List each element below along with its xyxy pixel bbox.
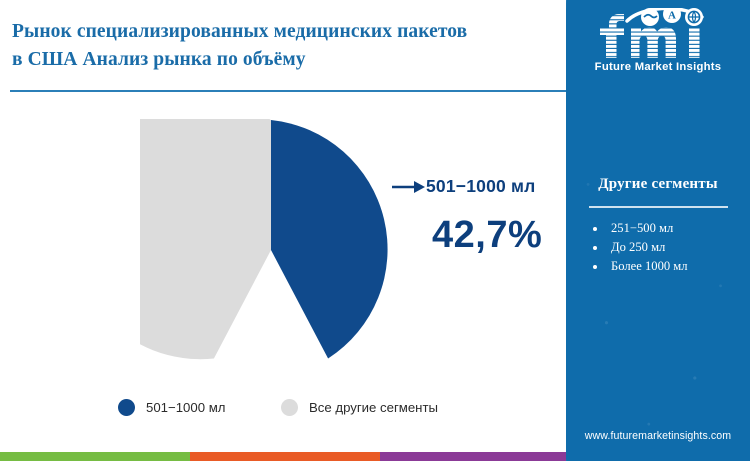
page-title: Рынок специализированных медицинских пак…	[12, 18, 557, 74]
bullet-icon	[593, 227, 597, 231]
brand-tagline: Future Market Insights	[566, 61, 750, 73]
callout-value: 42,7%	[432, 214, 542, 257]
list-item-label: 251−500 мл	[611, 221, 673, 235]
list-item: 251−500 мл	[589, 219, 749, 238]
sidebar-segment-list: 251−500 мл До 250 мл Более 1000 мл	[589, 219, 749, 276]
pie-slice-501-1000	[271, 120, 388, 359]
chart-legend: 501−1000 мл Все другие сегменты	[118, 394, 458, 420]
infographic-canvas: Рынок специализированных медицинских пак…	[0, 0, 750, 461]
pie-slice-other	[140, 119, 271, 359]
page-title-line-2: в США Анализ рынка по объёму	[12, 46, 557, 74]
footer-strip-purple	[380, 452, 566, 461]
bullet-icon	[593, 265, 597, 269]
legend-label: Все другие сегменты	[309, 400, 438, 415]
page-title-line-1: Рынок специализированных медицинских пак…	[12, 21, 467, 42]
legend-swatch-icon	[118, 399, 135, 416]
footer-strip-green	[0, 452, 190, 461]
callout-label: 501−1000 мл	[426, 176, 535, 197]
list-item: До 250 мл	[589, 238, 749, 257]
website-url[interactable]: www.futuremarketinsights.com	[566, 430, 750, 442]
svg-text:A: A	[668, 10, 676, 22]
list-item-label: До 250 мл	[611, 240, 665, 254]
brand-logo: A Future Market Insights	[566, 6, 750, 84]
list-item: Более 1000 мл	[589, 257, 749, 276]
bullet-icon	[593, 246, 597, 250]
sidebar-heading-underline	[589, 206, 728, 208]
header-divider	[10, 90, 566, 92]
list-item-label: Более 1000 мл	[611, 259, 688, 273]
legend-swatch-icon	[281, 399, 298, 416]
legend-item-501-1000: 501−1000 мл	[118, 394, 225, 420]
sidebar-heading: Другие сегменты	[566, 176, 750, 193]
legend-item-other: Все другие сегменты	[281, 394, 438, 420]
legend-label: 501−1000 мл	[146, 400, 225, 415]
callout-arrow-icon	[392, 178, 426, 196]
footer-strip-orange	[190, 452, 380, 461]
pie-chart	[140, 119, 402, 381]
fmi-logo-icon: A	[594, 8, 726, 60]
